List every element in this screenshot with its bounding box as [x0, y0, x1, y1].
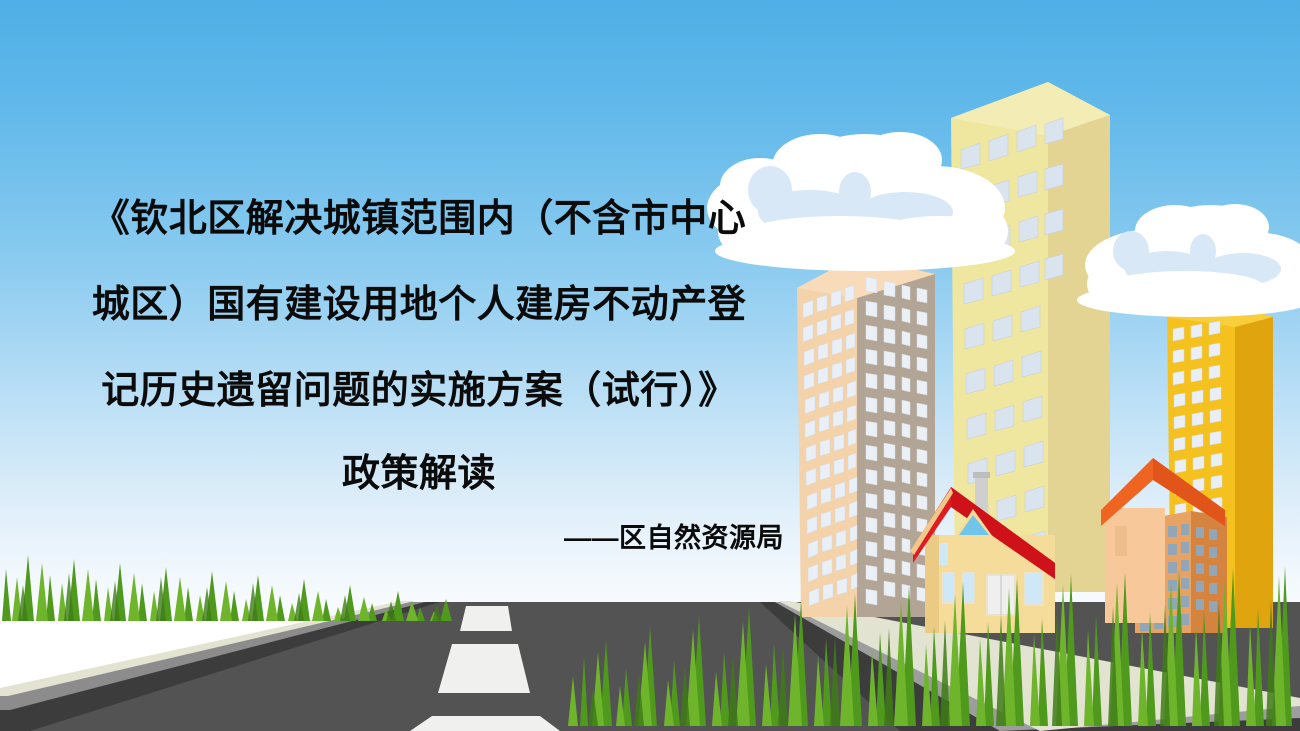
house-orange-roof: [1095, 448, 1245, 628]
house-red-roof: [905, 455, 1105, 635]
title-subtitle: 政策解读: [24, 434, 814, 514]
title-line-3: 记历史遗留问题的实施方案（试行）》: [24, 348, 814, 434]
title-line-2: 城区）国有建设用地个人建房不动产登: [24, 262, 814, 348]
title-line-1: 《钦北区解决城镇范围内（不含市中心: [24, 176, 814, 262]
title-block: 《钦北区解决城镇范围内（不含市中心 城区）国有建设用地个人建房不动产登 记历史遗…: [24, 176, 814, 514]
attribution-text: ——区自然资源局: [24, 516, 814, 555]
slide-canvas: 《钦北区解决城镇范围内（不含市中心 城区）国有建设用地个人建房不动产登 记历史遗…: [0, 0, 1300, 731]
